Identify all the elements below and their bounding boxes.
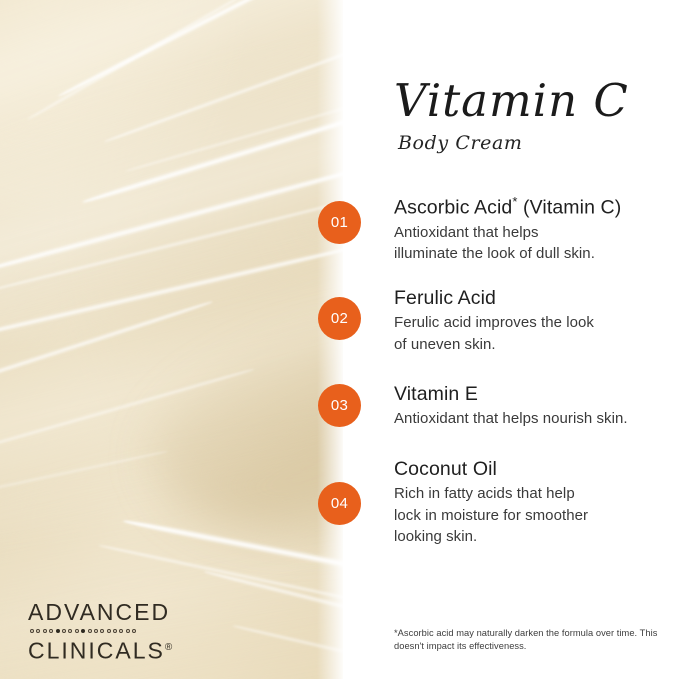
product-infographic: ADVANCED CLINICALS® (0, 0, 679, 679)
brand-dot (94, 629, 98, 633)
step-badge-03: 03 (318, 384, 361, 427)
brand-dot (107, 629, 111, 633)
brand-dot (119, 629, 123, 633)
brand-name-text: CLINICALS (28, 638, 165, 664)
benefit-title: Coconut Oil (394, 457, 679, 481)
benefit-title: Ferulic Acid (394, 286, 679, 310)
brand-dot (132, 629, 136, 633)
title-block: Vitamin C Body Cream (394, 76, 674, 154)
benefit-title: Ascorbic Acid* (Vitamin C) (394, 190, 679, 220)
brand-dot-row (30, 626, 172, 635)
brand-dot (62, 629, 66, 633)
benefit-title-text: Ferulic Acid (394, 287, 496, 309)
step-number: 04 (331, 495, 348, 512)
benefit-description: Antioxidant that helps nourish skin. (394, 408, 679, 430)
brand-dot (36, 629, 40, 633)
benefit-description: Antioxidant that helps illuminate the lo… (394, 222, 679, 265)
footnote-disclaimer: *Ascorbic acid may naturally darken the … (394, 627, 674, 652)
benefit-title-text: Vitamin E (394, 383, 478, 405)
content-panel: Vitamin C Body Cream Ascorbic Acid* (Vit… (343, 0, 679, 679)
product-subtitle: Body Cream (398, 132, 674, 154)
benefit-item-01: Ascorbic Acid* (Vitamin C) Antioxidant t… (394, 190, 679, 265)
benefit-title-text: Coconut Oil (394, 458, 497, 480)
brand-dot (49, 629, 53, 633)
brand-dot-filled (56, 629, 60, 633)
benefit-title-text: Ascorbic Acid (394, 197, 512, 219)
brand-name-line-1: ADVANCED (28, 600, 172, 625)
brand-dot (88, 629, 92, 633)
brand-dot (75, 629, 79, 633)
benefit-item-03: Vitamin E Antioxidant that helps nourish… (394, 382, 679, 430)
benefit-description: Rich in fatty acids that help lock in mo… (394, 483, 679, 548)
benefit-item-04: Coconut Oil Rich in fatty acids that hel… (394, 457, 679, 548)
brand-logo: ADVANCED CLINICALS® (28, 600, 172, 664)
brand-dot (68, 629, 72, 633)
brand-dot (100, 629, 104, 633)
step-badge-02: 02 (318, 297, 361, 340)
registered-trademark-icon: ® (165, 642, 172, 653)
step-number: 01 (331, 214, 348, 231)
step-number: 02 (331, 310, 348, 327)
brand-dot (113, 629, 117, 633)
benefit-title-suffix: (Vitamin C) (518, 197, 622, 219)
brand-dot-filled (81, 629, 85, 633)
step-number: 03 (331, 397, 348, 414)
brand-dot (30, 629, 34, 633)
step-badge-01: 01 (318, 201, 361, 244)
brand-dot (43, 629, 47, 633)
page-title: Vitamin C (394, 76, 674, 126)
brand-dot (126, 629, 130, 633)
brand-name-line-2: CLINICALS® (28, 635, 172, 664)
benefit-item-02: Ferulic Acid Ferulic acid improves the l… (394, 286, 679, 355)
benefit-title: Vitamin E (394, 382, 679, 406)
cream-texture-photo: ADVANCED CLINICALS® (0, 0, 343, 679)
step-badge-04: 04 (318, 482, 361, 525)
benefit-description: Ferulic acid improves the look of uneven… (394, 312, 679, 355)
